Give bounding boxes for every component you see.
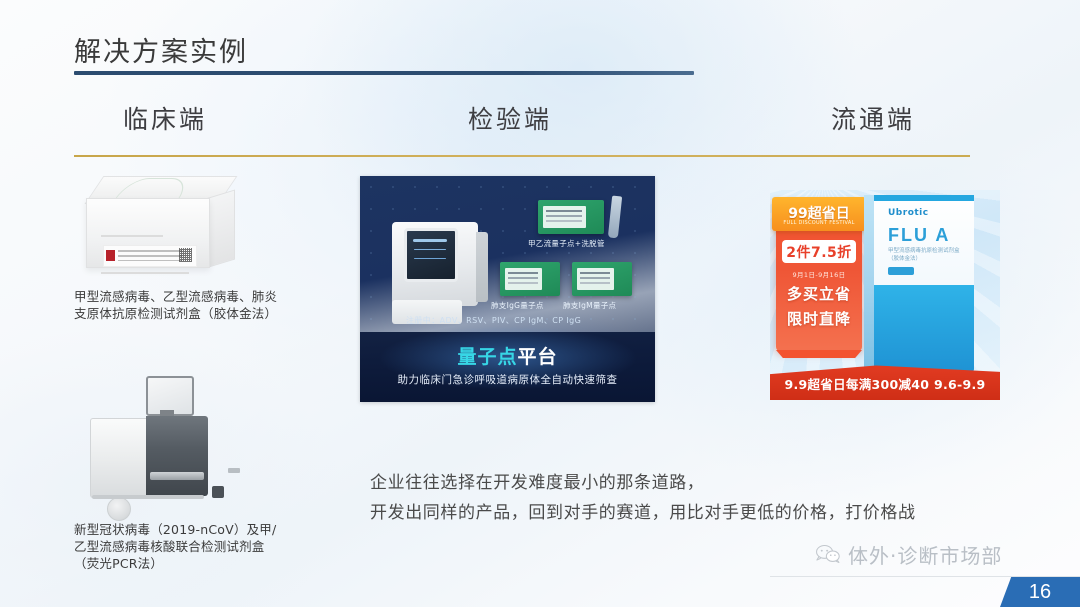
product-box-product-name: FLU A — [888, 225, 950, 246]
test-card-label-flu: 甲乙流量子点+洗脱管 — [528, 238, 605, 249]
poster-subtitle: 助力临床门急诊呼吸道病原体全自动快速筛查 — [360, 372, 655, 387]
promo-date-range: 9月1日-9月16日 — [776, 269, 862, 279]
pcr-sample-drawer — [150, 472, 204, 480]
test-card-igm — [572, 262, 632, 296]
flu-test-product-box: Ubrotic FLU A 甲型流感病毒抗原检测试剂盒（胶体金法） 甲型流感检测… — [874, 195, 974, 371]
quantum-dot-platform-poster: 甲乙流量子点+洗脱管 肺支IgG量子点 肺支IgM量子点 注册中：ADV、RSV… — [360, 176, 655, 402]
promo-discount-text: 2件7.5折 — [786, 242, 852, 262]
pcr-sample-tube — [212, 486, 224, 498]
product-box-upper-face: Ubrotic FLU A 甲型流感病毒抗原检测试剂盒（胶体金法） — [874, 195, 974, 285]
test-card-flu — [538, 200, 604, 234]
kit-box-side-face — [207, 189, 235, 268]
kit-box-front-face — [86, 198, 210, 268]
promo-ribbon-subtext: FULL DISCOUNT FESTIVAL — [772, 220, 866, 226]
product-box-badge — [888, 267, 914, 275]
product-box-brand: Ubrotic — [888, 208, 929, 218]
pcr-body-right — [146, 416, 208, 496]
test-card-igg — [500, 262, 560, 296]
test-card-label-igg: 肺支IgG量子点 — [491, 300, 544, 311]
kit-box-printline-bottom — [101, 272, 189, 274]
kit-box-printline-top — [101, 235, 163, 237]
column-header-laboratory: 检验端 — [468, 100, 552, 136]
product-box-top-band — [874, 195, 974, 201]
pcr-analyzer-image — [90, 376, 265, 504]
analyzer-side-panel — [476, 232, 488, 302]
test-card-label-igm: 肺支IgM量子点 — [563, 300, 616, 311]
ecommerce-promo-banner: 99超省日 FULL DISCOUNT FESTIVAL 2件7.5折 9月1日… — [770, 190, 1000, 400]
body-line-2: 开发出同样的产品，回到对手的赛道，用比对手更低的价格，打价格战 — [370, 498, 1000, 528]
poster-title-rest: 平台 — [518, 346, 558, 368]
poster-bottom-band: 量子点平台 助力临床门急诊呼吸道病原体全自动快速筛查 — [360, 332, 655, 402]
promo-discount-pill: 2件7.5折 — [782, 240, 856, 263]
kit-box-qr-code — [179, 248, 192, 262]
test-card-window — [577, 268, 614, 290]
pcr-dial — [107, 497, 131, 521]
promo-line-2: 限时直降 — [776, 308, 862, 329]
quantum-dot-analyzer-illustration — [392, 204, 488, 324]
poster-title: 量子点平台 — [360, 342, 655, 369]
clinical-product1-caption: 甲型流感病毒、乙型流感病毒、肺炎支原体抗原检测试剂盒（胶体金法） — [74, 288, 289, 322]
product-box-description: 甲型流感病毒抗原检测试剂盒（胶体金法） — [888, 247, 964, 263]
pcr-body-left — [90, 418, 147, 498]
title-underline — [74, 71, 694, 75]
column-header-clinical: 临床端 — [123, 100, 207, 136]
watermark: 体外·诊断市场部 — [815, 540, 1002, 569]
analyzer-screen — [404, 228, 458, 282]
clinical-product2-caption: 新型冠状病毒（2019-nCoV）及甲/乙型流感病毒核酸联合检测试剂盒（荧光PC… — [74, 521, 289, 572]
pcr-base-foot — [92, 495, 204, 499]
body-line-1: 企业往往选择在开发难度最小的那条道路， — [370, 468, 1000, 498]
reagent-kit-box-image — [86, 176, 238, 272]
test-card-window — [543, 206, 586, 228]
slide-canvas: 解决方案实例 临床端 检验端 流通端 甲型流感病毒、乙型流感病毒、肺炎支原体抗原… — [0, 0, 1080, 607]
test-card-window — [505, 268, 542, 290]
promo-ribbon: 99超省日 FULL DISCOUNT FESTIVAL — [772, 197, 866, 231]
registration-note: 注册中：ADV、RSV、PIV、CP IgM、CP IgG — [406, 315, 581, 326]
analyzer-body — [392, 222, 478, 306]
pcr-logo-mark — [228, 468, 240, 473]
promo-line-1: 多买立省 — [776, 283, 862, 304]
body-paragraph: 企业往往选择在开发难度最小的那条道路， 开发出同样的产品，回到对手的赛道，用比对… — [370, 468, 1000, 528]
watermark-text: 体外·诊断市场部 — [848, 540, 1002, 569]
column-header-distribution: 流通端 — [831, 100, 915, 136]
promo-bottom-banner-text: 9.9超省日每满300减40 9.6-9.9 — [770, 374, 1000, 393]
gold-divider — [74, 155, 970, 157]
wechat-icon — [815, 544, 841, 565]
product-box-lower-face: 甲型流感检测 儿童老人 可测 — [874, 285, 974, 371]
page-number-badge: 16 — [1000, 577, 1080, 607]
promo-discount-card: 99超省日 FULL DISCOUNT FESTIVAL 2件7.5折 9月1日… — [776, 203, 862, 351]
poster-title-highlight: 量子点 — [457, 346, 517, 368]
footer-hairline — [770, 576, 1080, 577]
page-title: 解决方案实例 — [74, 30, 248, 69]
